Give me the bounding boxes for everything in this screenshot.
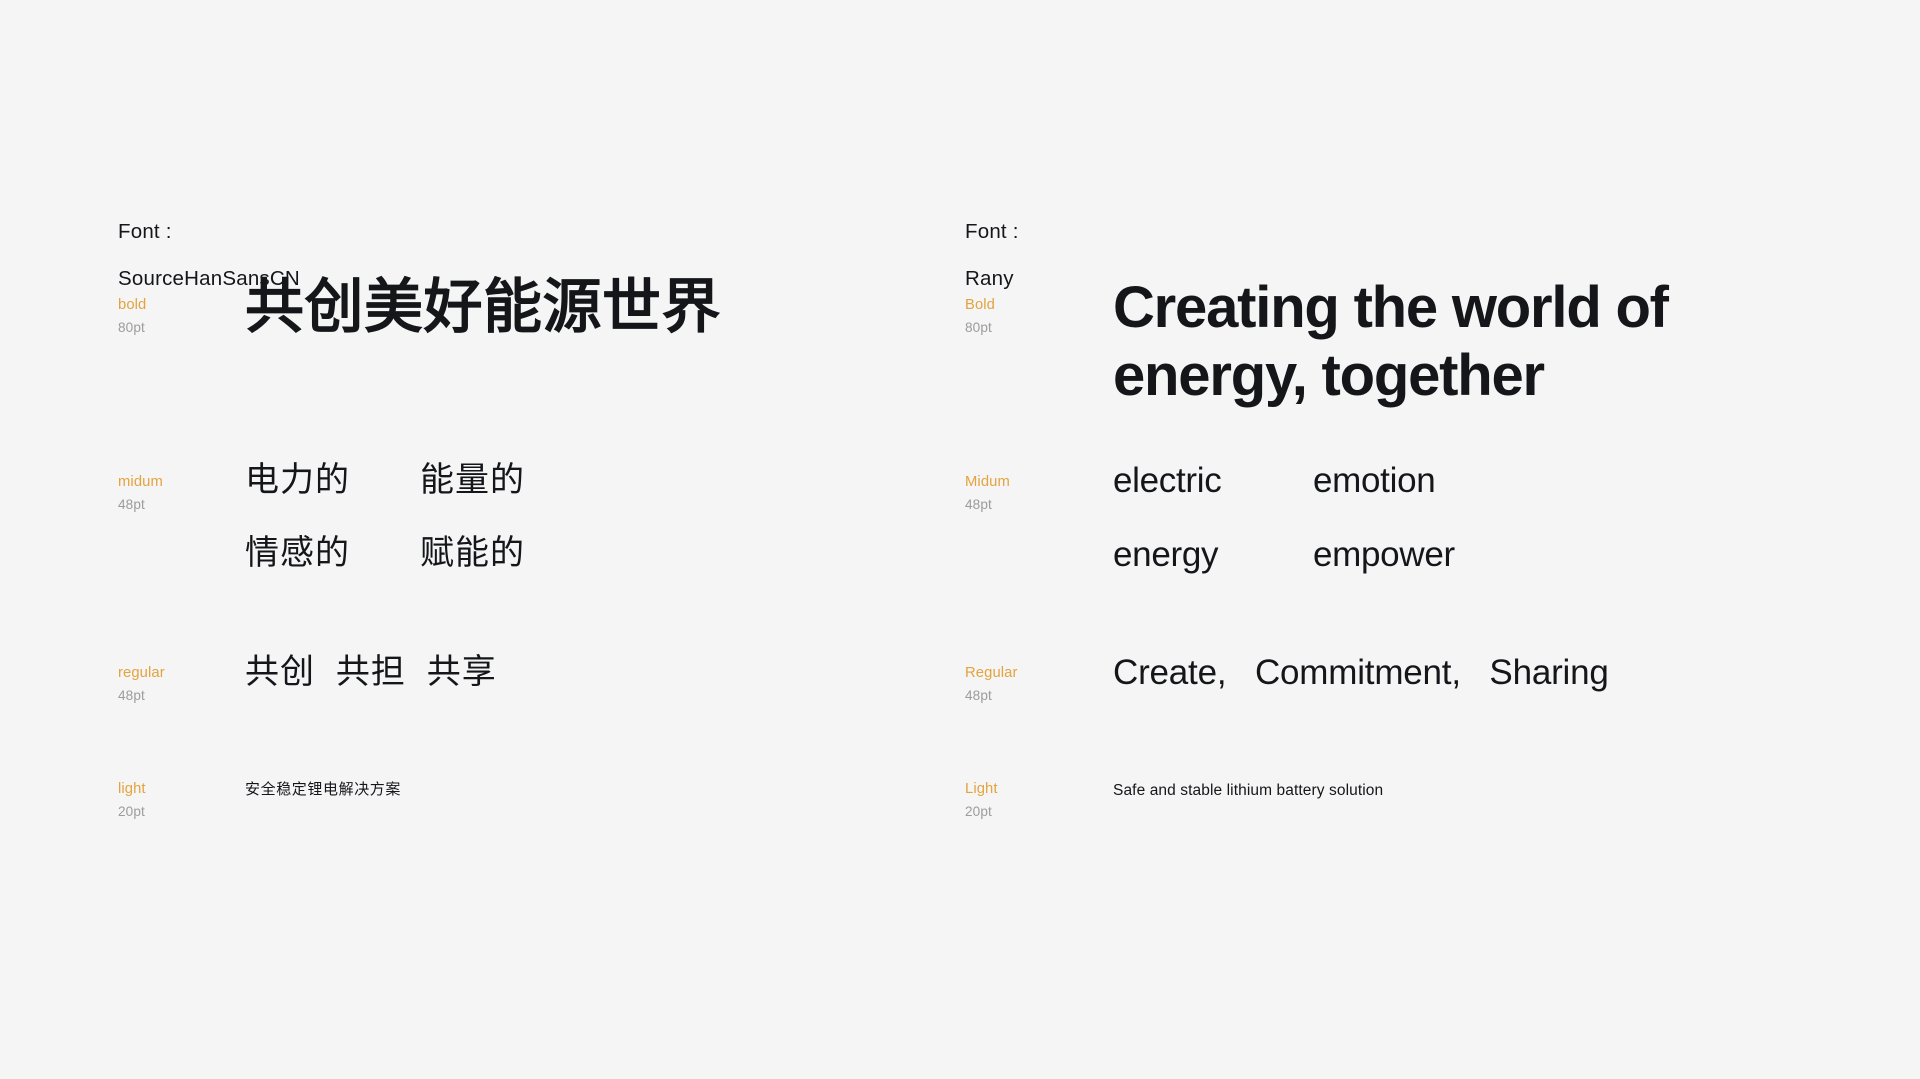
sample-line: Safe and stable lithium battery solution bbox=[1113, 783, 1920, 799]
font-label-right: Font : bbox=[965, 220, 1019, 243]
weight-name-midum-right: Midum bbox=[965, 473, 1105, 493]
weight-size-light-right: 20pt bbox=[965, 802, 1105, 822]
weight-name-light-right: Light bbox=[965, 780, 1105, 800]
sample-word: energy bbox=[1113, 537, 1313, 572]
sample-word: empower bbox=[1313, 537, 1920, 572]
sample-word: emotion bbox=[1313, 463, 1920, 498]
weight-name-bold-right: Bold bbox=[965, 296, 1105, 316]
weight-size-bold-right: 80pt bbox=[965, 318, 1105, 338]
font-column-rany: Font : Rany Bold 80pt Creating the world… bbox=[0, 0, 1920, 1079]
sample-word-grid: electric emotion energy empower bbox=[1113, 463, 1920, 572]
sample-text-bold-right: Creating the world of energy, together bbox=[1113, 274, 1920, 410]
weight-name-regular-right: Regular bbox=[965, 664, 1105, 684]
sample-word: Commitment, bbox=[1245, 655, 1479, 690]
typography-specimen-sheet: Font : SourceHanSansCN bold 80pt 共创美好能源世… bbox=[0, 0, 1920, 1079]
weight-labels-bold-right: Bold 80pt bbox=[965, 296, 1105, 338]
weight-size-midum-right: 48pt bbox=[965, 495, 1105, 515]
sample-word: Sharing bbox=[1480, 655, 1609, 690]
font-name-right: Rany bbox=[965, 267, 1019, 290]
sample-text-light-right: Safe and stable lithium battery solution bbox=[1113, 783, 1920, 799]
sample-word-list: Create, Commitment, Sharing bbox=[1113, 655, 1920, 690]
sample-word: electric bbox=[1113, 463, 1313, 498]
weight-labels-regular-right: Regular 48pt bbox=[965, 664, 1105, 706]
sample-line: Creating the world of bbox=[1113, 274, 1920, 342]
sample-text-midum-right: electric emotion energy empower bbox=[1113, 463, 1920, 572]
weight-labels-light-right: Light 20pt bbox=[965, 780, 1105, 822]
sample-word: Create, bbox=[1113, 655, 1245, 690]
sample-line: energy, together bbox=[1113, 342, 1920, 410]
sample-text-regular-right: Create, Commitment, Sharing bbox=[1113, 655, 1920, 690]
weight-labels-midum-right: Midum 48pt bbox=[965, 473, 1105, 515]
weight-size-regular-right: 48pt bbox=[965, 686, 1105, 706]
